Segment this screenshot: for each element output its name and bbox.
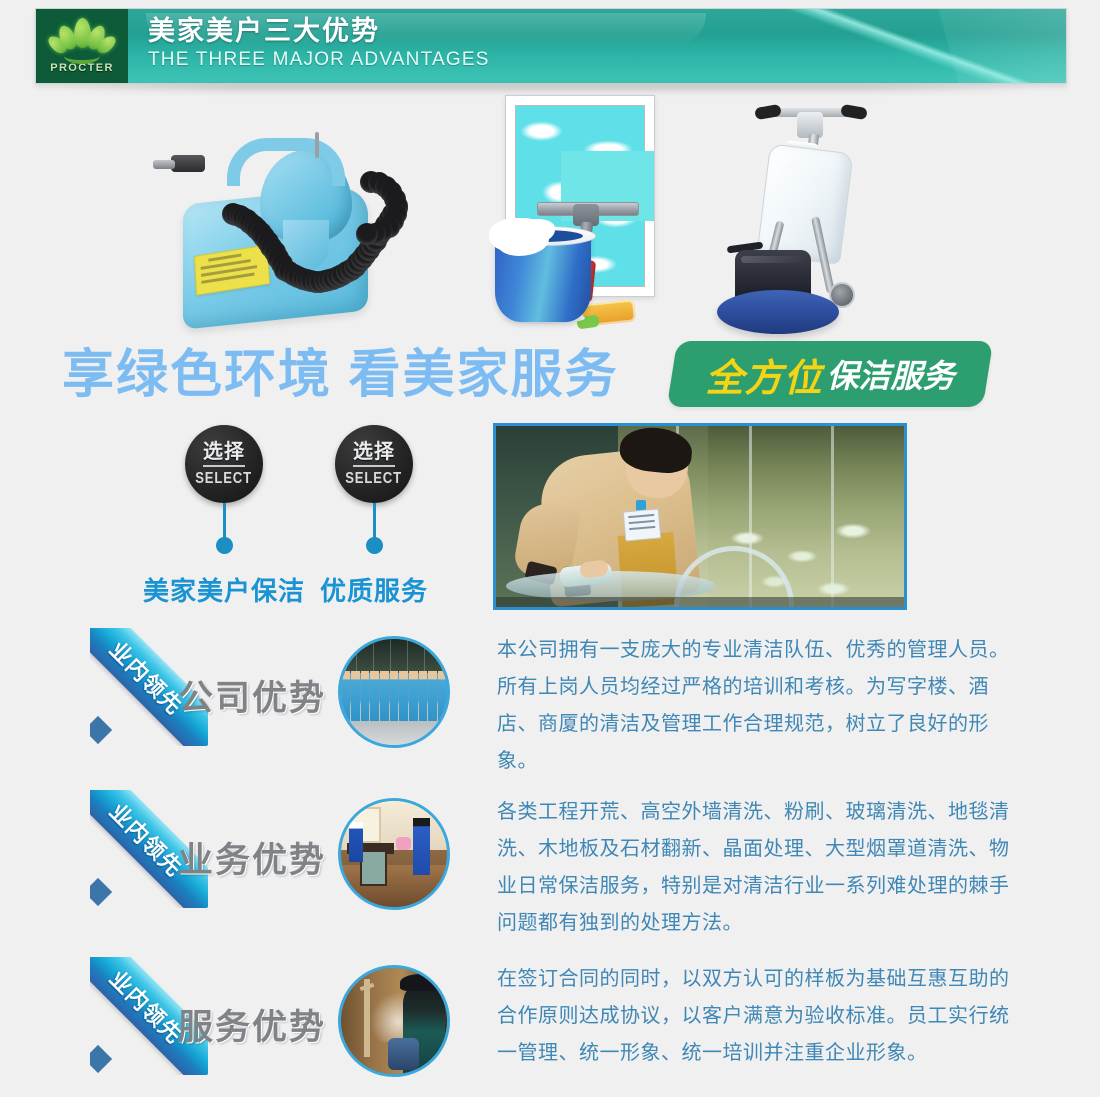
advantage-text-3: 在签订合同的同时，以双方认可的样板为基础互惠互助的合作原则达成协议，以客户满意为… [497,961,1017,1072]
advantage-title-3: 服务优势 [178,999,358,1050]
select-pin-dot-2 [366,537,383,554]
header-diagonal-sheen [856,9,1066,83]
product-image-strip [0,90,1100,345]
photo-restaurant-cleaning [341,801,447,907]
page-header-banner: PROCTER 美家美户三大优势 THE THREE MAJOR ADVANTA… [35,8,1067,84]
advantage-text-1: 本公司拥有一支庞大的专业清洁队伍、优秀的管理人员。所有上岗人员均经过严格的培训和… [497,632,1017,780]
polisher-grip-left [754,104,782,120]
photo-worker-2 [413,818,430,875]
hero-photo-sill [496,597,904,607]
select-badges-group: 选择 SELECT 美家美户保洁 选择 SELECT 优质服务 [0,425,470,620]
ribbon-fold [90,878,112,906]
polisher-grip-right [840,104,868,120]
select-pin-dot-1 [216,537,233,554]
select-badge-cn-1: 选择 [203,441,245,467]
sprayer-nozzle-tip [153,160,175,169]
advantage-photo-2 [338,798,450,910]
photo-roof [341,639,447,673]
advantage-title-1: 公司优势 [178,670,358,721]
select-circle-icon: 选择 SELECT [185,425,263,503]
photo-worker-1 [349,822,363,862]
leaf-crown-icon [51,18,113,60]
photo-wood-floor [341,865,447,907]
photo-chair [360,850,387,886]
worker-id-badge [623,508,661,541]
advantage-row-business: 业内领先 业务优势 各类工程开荒、高空外墙清洗、粉刷、玻璃清洗、地毯清洗、木地板… [0,790,1100,930]
select-badge-en-2: SELECT [346,470,403,488]
select-pin-line-1 [223,503,226,541]
polisher-pad [717,290,839,334]
advantage-photo-1 [338,636,450,748]
select-badge-2[interactable]: 选择 SELECT 优质服务 [335,425,413,503]
photo-team-lineup [341,639,447,745]
advantage-title-2: 业务优势 [178,832,358,883]
service-scope-banner: 全方位 保洁服务 [667,341,993,407]
ribbon-fold [90,716,112,744]
photo-ground [341,721,447,745]
select-badge-en-1: SELECT [196,470,253,488]
photo-technician-hat [400,974,442,991]
header-title-en: THE THREE MAJOR ADVANTAGES [148,48,490,72]
floor-polisher-image [715,92,905,342]
select-label-1: 美家美户保洁 [143,571,305,608]
header-title-cn: 美家美户三大优势 [148,15,490,47]
select-circle-icon: 选择 SELECT [335,425,413,503]
banner-white-text: 保洁服务 [827,351,955,397]
banner-gold-text: 全方位 [705,347,822,402]
sprayer-rod [315,132,319,158]
ulv-sprayer-image [165,110,465,340]
glass-mullion-3 [831,426,834,607]
window-cleaning-image [495,90,665,340]
sprayer-handle [227,138,345,186]
photo-decoration [396,837,411,850]
select-pin-line-2 [373,503,376,541]
advantage-photo-3 [338,965,450,1077]
company-logo: PROCTER [36,9,128,83]
advantage-text-2: 各类工程开荒、高空外墙清洗、粉刷、玻璃清洗、地毯清洗、木地板及石材翻新、晶面处理… [497,794,1017,942]
hose-segment [356,223,378,245]
select-badge-cn-2: 选择 [353,441,395,467]
photo-uniformed-staff [341,671,447,722]
promo-page: PROCTER 美家美户三大优势 THE THREE MAJOR ADVANTA… [0,0,1100,1096]
sprayer-nozzle [171,155,205,172]
main-headline: 享绿色环境 看美家服务 [62,345,618,405]
header-titles: 美家美户三大优势 THE THREE MAJOR ADVANTAGES [148,15,490,72]
advantage-row-company: 业内领先 公司优势 本公司拥有一支庞大的专业清洁队伍、优秀的管理人员。所有上岗人… [0,628,1100,768]
photo-disinfection-fogging [341,968,447,1074]
select-label-2: 优质服务 [320,571,428,608]
photo-fogging-machine [388,1038,420,1070]
ribbon-fold [90,1045,112,1073]
hero-photo-worker-cleaning [493,423,907,610]
select-badge-1[interactable]: 选择 SELECT 美家美户保洁 [185,425,263,503]
advantage-row-service: 业内领先 服务优势 在签订合同的同时，以双方认可的样板为基础互惠互助的合作原则达… [0,957,1100,1097]
